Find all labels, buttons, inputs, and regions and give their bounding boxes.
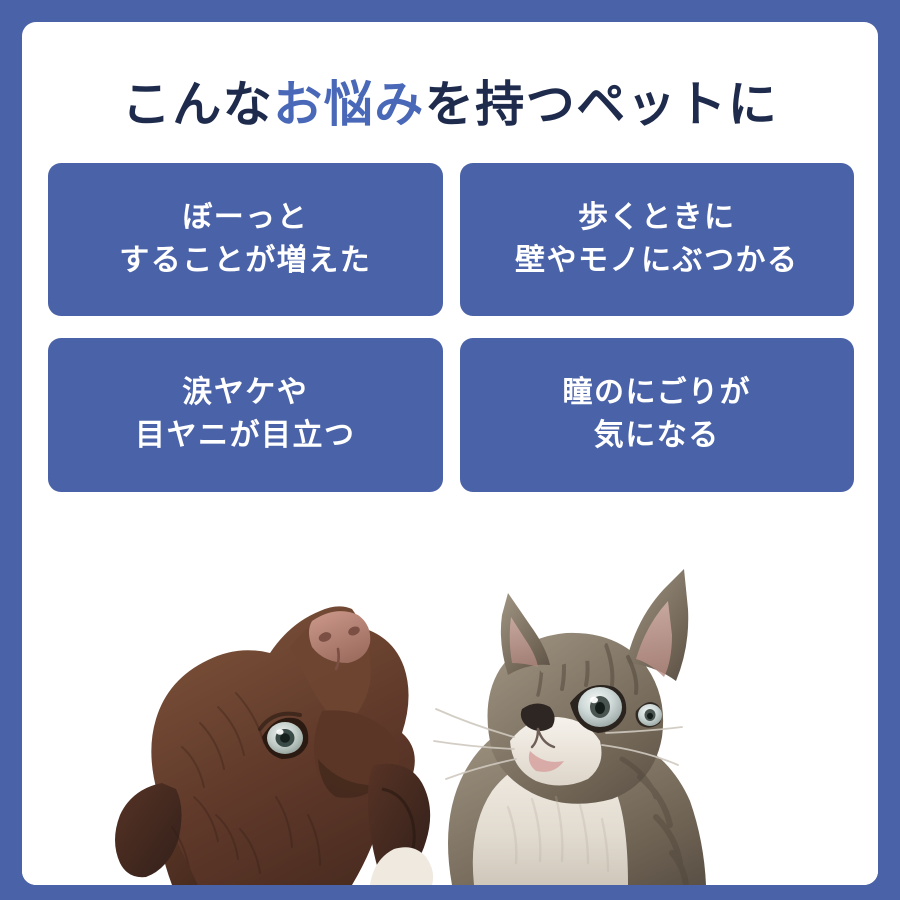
title-part-1: こんな	[122, 76, 274, 133]
symptom-card-4[interactable]: 瞳のにごりが 気になる	[460, 338, 855, 492]
symptom-card-2[interactable]: 歩くときに 壁やモノにぶつかる	[460, 163, 855, 316]
symptom-card-4-line2: 気になる	[594, 415, 720, 458]
symptom-card-1-line2: することが増えた	[119, 240, 371, 283]
symptom-card-3-line1: 涙ヤケや	[182, 372, 308, 415]
title-part-2: を持つペットに	[425, 76, 779, 133]
symptom-card-2-line1: 歩くときに	[578, 197, 736, 240]
symptom-card-1-line1: ぼーっと	[182, 197, 308, 240]
pet-photo-illustration	[22, 497, 878, 885]
symptom-card-1[interactable]: ぼーっと することが増えた	[48, 163, 443, 316]
content-panel: こんなお悩みを持つペットに ぼーっと することが増えた 歩くときに 壁やモノにぶ…	[22, 22, 878, 885]
page-title: こんなお悩みを持つペットに	[22, 80, 878, 129]
symptom-card-grid: ぼーっと することが増えた 歩くときに 壁やモノにぶつかる 涙ヤケや 目ヤニが目…	[48, 163, 854, 492]
symptom-card-3-line2: 目ヤニが目立つ	[135, 415, 356, 458]
poster-root: こんなお悩みを持つペットに ぼーっと することが増えた 歩くときに 壁やモノにぶ…	[0, 0, 900, 900]
symptom-card-2-line2: 壁やモノにぶつかる	[515, 240, 799, 283]
pet-photo	[22, 497, 878, 885]
symptom-card-4-line1: 瞳のにごりが	[563, 372, 751, 415]
symptom-card-3[interactable]: 涙ヤケや 目ヤニが目立つ	[48, 338, 443, 492]
title-highlight: お悩み	[273, 76, 425, 133]
